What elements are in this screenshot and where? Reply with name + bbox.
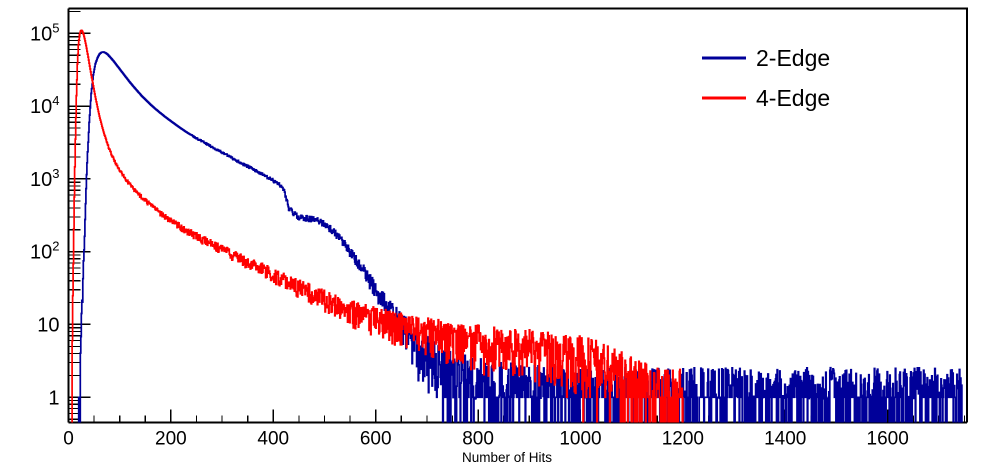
x-tick-label: 1200 <box>662 429 704 450</box>
x-tick-label: 1000 <box>559 429 601 450</box>
x-tick-label: 1600 <box>867 429 909 450</box>
x-tick-label: 400 <box>257 429 289 450</box>
x-tick-label: 0 <box>63 429 74 450</box>
x-tick-label: 800 <box>462 429 494 450</box>
x-tick-label: 600 <box>360 429 392 450</box>
legend-label-2-edge: 2-Edge <box>756 45 830 71</box>
chart-canvas: 110102103104105 020040060080010001200140… <box>0 0 996 472</box>
legend-label-4-edge: 4-Edge <box>756 85 830 111</box>
x-tick-label: 1400 <box>764 429 806 450</box>
x-tick-label: 200 <box>155 429 187 450</box>
y-tick-label: 10 <box>37 314 59 336</box>
x-axis-title: Number of Hits <box>462 450 552 465</box>
histogram-plot: 110102103104105 020040060080010001200140… <box>0 0 996 472</box>
y-tick-label: 1 <box>48 387 59 409</box>
